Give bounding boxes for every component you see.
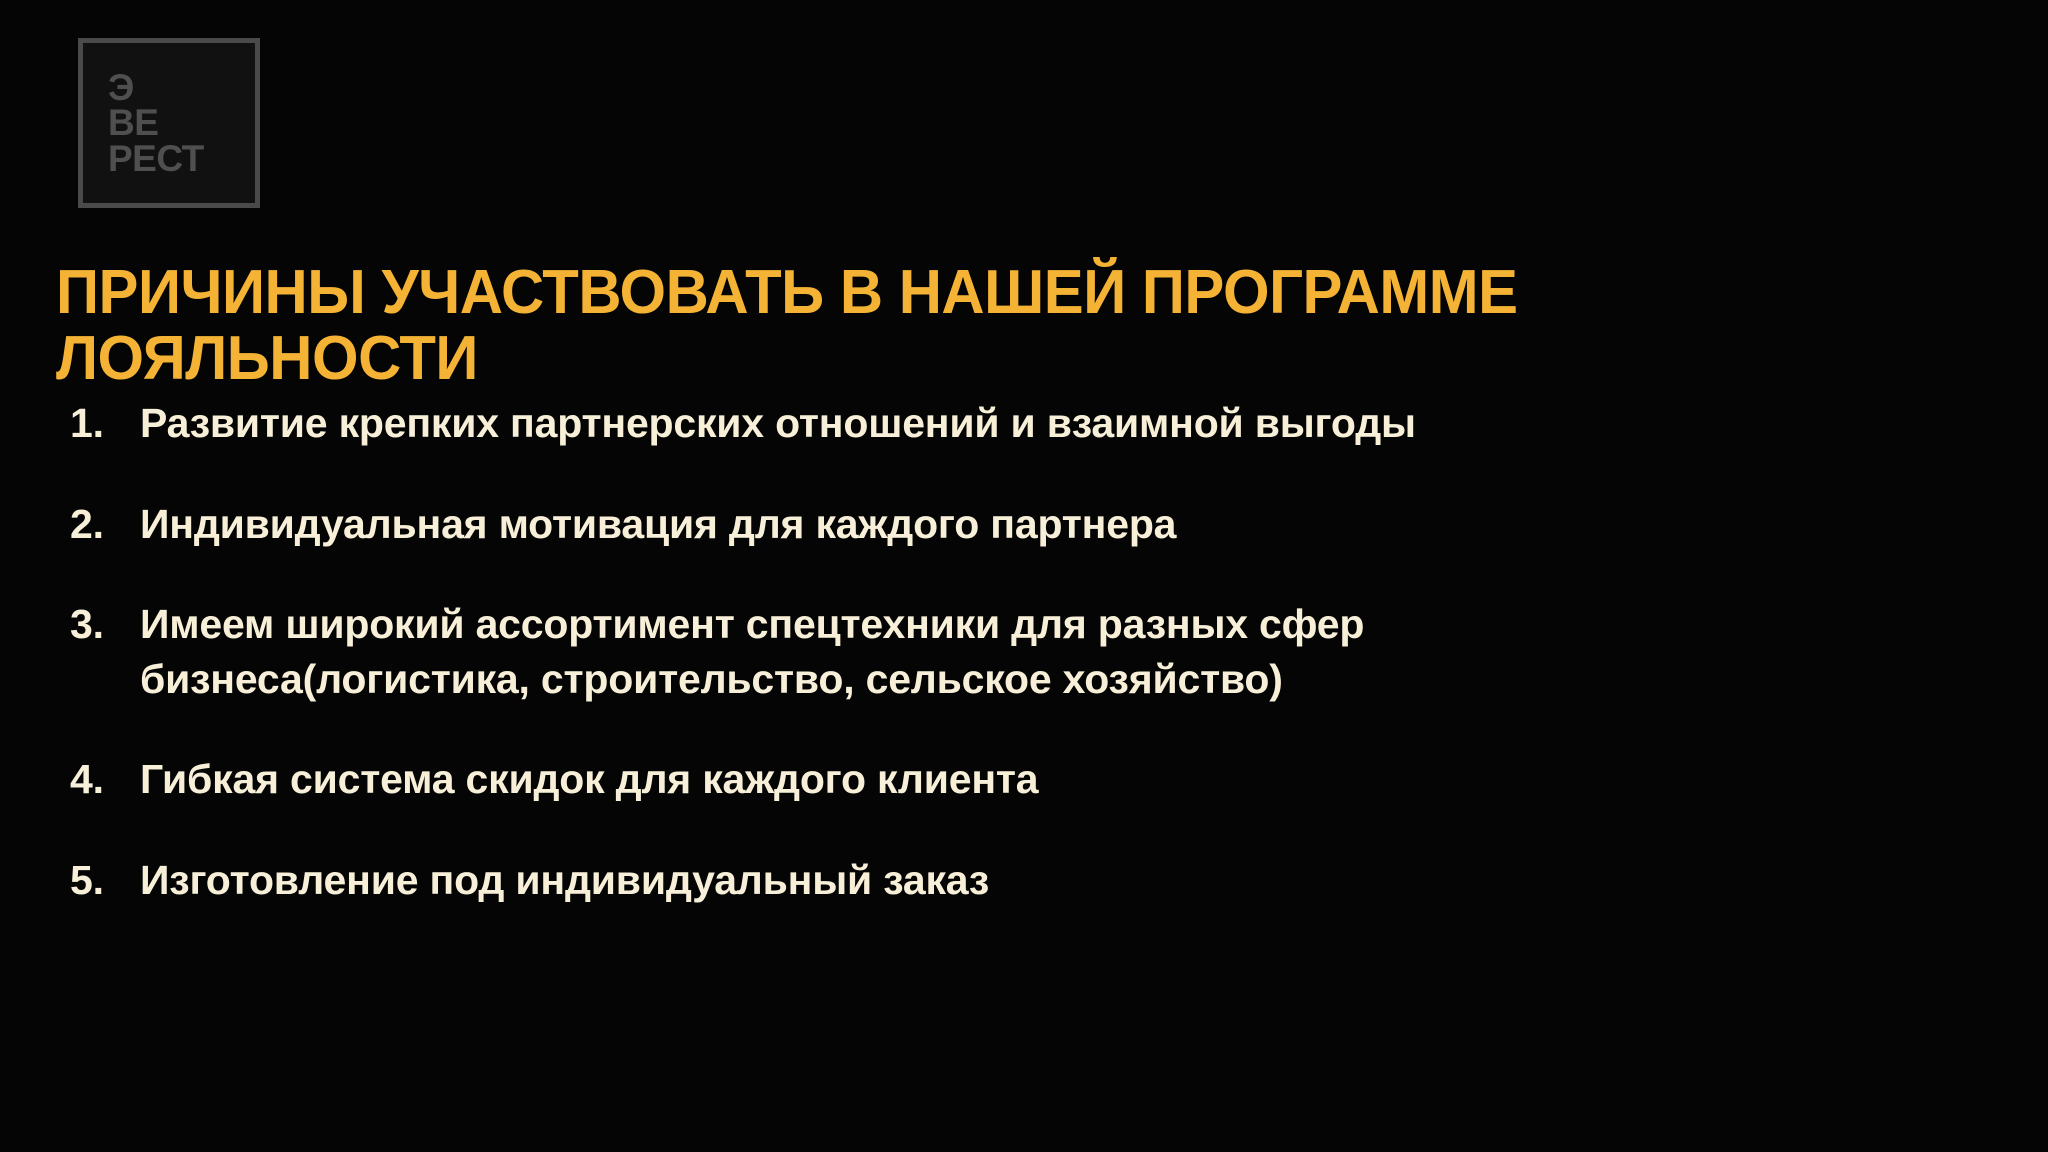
list-item-line-1: Изготовление под индивидуальный заказ xyxy=(140,853,1820,908)
list-item-text: Гибкая система скидок для каждого клиент… xyxy=(140,752,1820,807)
reasons-list: 1. Развитие крепких партнерских отношени… xyxy=(70,396,1970,907)
list-item-number: 4. xyxy=(70,752,140,807)
list-item: 1. Развитие крепких партнерских отношени… xyxy=(70,396,1970,451)
list-item-text: Развитие крепких партнерских отношений и… xyxy=(140,396,1820,451)
list-item-text: Имеем широкий ассортимент спецтехники дл… xyxy=(140,597,1820,706)
list-item: 4. Гибкая система скидок для каждого кли… xyxy=(70,752,1970,807)
list-item-text: Индивидуальная мотивация для каждого пар… xyxy=(140,497,1820,552)
list-item: 3. Имеем широкий ассортимент спецтехники… xyxy=(70,597,1970,706)
everest-logo: Э ВЕ РЕСТ xyxy=(78,38,260,208)
list-item-number: 3. xyxy=(70,597,140,652)
list-item-line-2: бизнеса(логистика, строительство, сельск… xyxy=(140,652,1820,707)
list-item-line-1: Гибкая система скидок для каждого клиент… xyxy=(140,752,1820,807)
slide-title-line-2: ЛОЯЛЬНОСТИ xyxy=(56,326,1841,392)
slide-title-line-1: ПРИЧИНЫ УЧАСТВОВАТЬ В НАШЕЙ ПРОГРАММЕ xyxy=(56,260,1841,326)
list-item-line-1: Индивидуальная мотивация для каждого пар… xyxy=(140,497,1820,552)
list-item-number: 1. xyxy=(70,396,140,451)
logo-line-3: РЕСТ xyxy=(108,141,204,176)
logo-line-1: Э xyxy=(108,70,134,105)
list-item-line-1: Имеем широкий ассортимент спецтехники дл… xyxy=(140,597,1820,652)
list-item-text: Изготовление под индивидуальный заказ xyxy=(140,853,1820,908)
presentation-slide: Э ВЕ РЕСТ ПРИЧИНЫ УЧАСТВОВАТЬ В НАШЕЙ ПР… xyxy=(0,0,2048,1152)
list-item: 2. Индивидуальная мотивация для каждого … xyxy=(70,497,1970,552)
list-item-number: 2. xyxy=(70,497,140,552)
list-item: 5. Изготовление под индивидуальный заказ xyxy=(70,853,1970,908)
logo-line-2: ВЕ xyxy=(108,105,158,140)
list-item-line-1: Развитие крепких партнерских отношений и… xyxy=(140,396,1820,451)
list-item-number: 5. xyxy=(70,853,140,908)
slide-title: ПРИЧИНЫ УЧАСТВОВАТЬ В НАШЕЙ ПРОГРАММЕ ЛО… xyxy=(56,260,1841,393)
